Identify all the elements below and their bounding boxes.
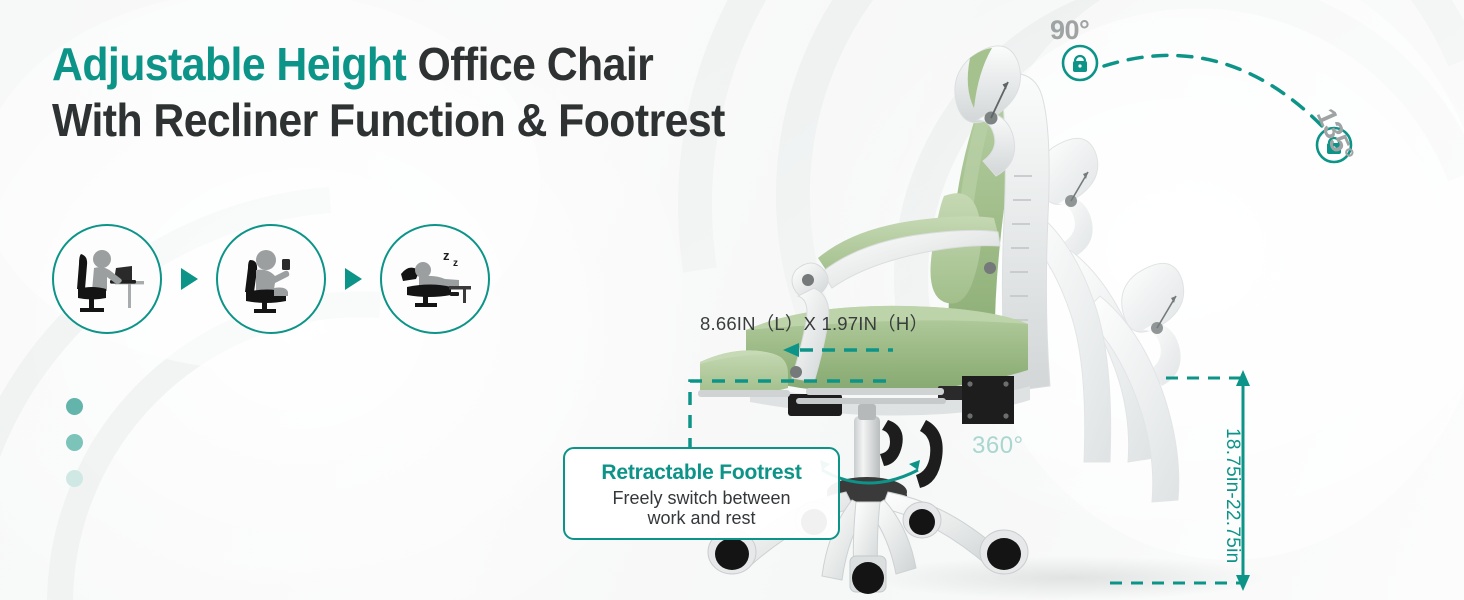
dot-2 xyxy=(66,434,83,451)
marketing-banner: Adjustable Height Office Chair With Recl… xyxy=(0,0,1464,600)
decorative-dots xyxy=(66,398,83,487)
svg-text:z: z xyxy=(453,258,458,269)
callout-subtitle-line1: Freely switch between xyxy=(612,488,790,508)
reclined-reading-icon xyxy=(232,244,310,314)
swivel-label: 360° xyxy=(972,432,1024,460)
footrest-dimension-label: 8.66IN（L）X 1.97IN（H） xyxy=(700,310,928,336)
height-lever xyxy=(880,420,903,466)
dot-3 xyxy=(66,470,83,487)
sequence-arrow-2 xyxy=(340,264,366,294)
picto-reclined-reading xyxy=(216,224,326,334)
callout-title: Retractable Footrest xyxy=(601,461,801,485)
svg-text:z: z xyxy=(443,248,450,263)
callout-subtitle: Freely switch between work and rest xyxy=(612,488,790,529)
seat-bracket-left xyxy=(788,394,842,416)
sleeping-footrest-icon: z z xyxy=(393,244,477,314)
usage-mode-sequence: z z xyxy=(52,224,490,334)
footrest-callout: Retractable Footrest Freely switch betwe… xyxy=(563,447,840,540)
recline-lever xyxy=(916,420,943,488)
sequence-arrow-1 xyxy=(176,264,202,294)
picto-working-at-desk xyxy=(52,224,162,334)
picto-sleeping-with-footrest: z z xyxy=(380,224,490,334)
callout-subtitle-line2: work and rest xyxy=(647,508,755,528)
working-at-desk-icon xyxy=(68,244,146,314)
triangle-right-icon xyxy=(178,266,200,292)
headline-accent: Adjustable Height xyxy=(52,38,406,90)
dot-1 xyxy=(66,398,83,415)
triangle-right-icon xyxy=(342,266,364,292)
angle-min-label: 90° xyxy=(1050,15,1089,46)
seat-height-label: 18.75in-22.75in xyxy=(1221,428,1243,564)
